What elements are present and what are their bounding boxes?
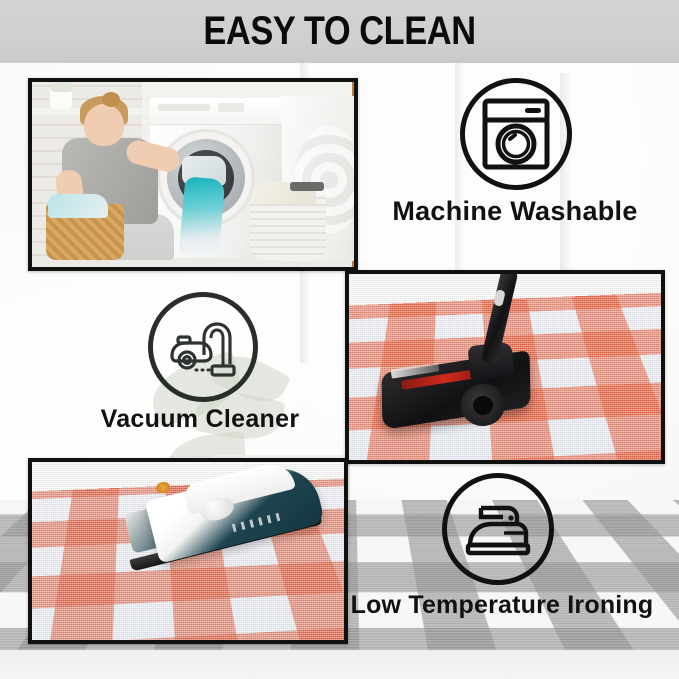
feature-label: Vacuum Cleaner: [95, 405, 305, 434]
floor-strip: [0, 650, 679, 679]
iron-on-rug-photo: [28, 458, 348, 644]
vacuum-on-rug-photo: [345, 270, 665, 464]
feature-label: Low Temperature Ironing: [348, 591, 656, 620]
feature-low-temperature-ironing: Low Temperature Ironing: [348, 473, 656, 623]
feature-machine-washable: Machine Washable: [385, 78, 645, 248]
feature-label: Machine Washable: [385, 196, 645, 227]
page-title: EASY TO CLEAN: [48, 6, 632, 56]
iron-icon: [464, 499, 534, 561]
washing-machine-icon: [481, 98, 551, 170]
feature-vacuum-cleaner: Vacuum Cleaner: [95, 292, 305, 442]
infographic-root: EASY TO CLEAN: [0, 0, 679, 679]
laundry-washing-machine-photo: [28, 78, 358, 271]
vacuum-cleaner-icon: [168, 316, 240, 382]
header-banner: EASY TO CLEAN: [0, 0, 679, 63]
